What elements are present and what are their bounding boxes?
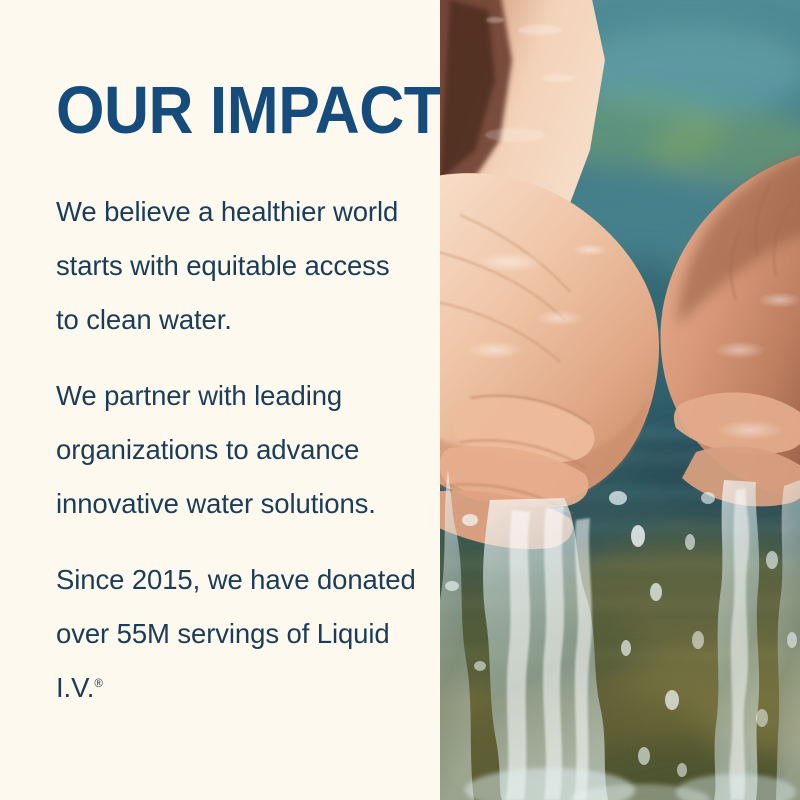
paragraph-partnerships: We partner with leading organizations to… bbox=[56, 369, 416, 531]
hands-with-water-photo bbox=[440, 0, 800, 800]
paragraph-mission: We believe a healthier world starts with… bbox=[56, 185, 416, 347]
paragraph-donations-text: Since 2015, we have donated over 55M ser… bbox=[56, 564, 416, 703]
text-panel: OUR IMPACT We believe a healthier world … bbox=[0, 0, 440, 800]
hands-with-water-illustration bbox=[440, 0, 800, 800]
registered-trademark-icon: ® bbox=[94, 678, 103, 690]
paragraph-donations: Since 2015, we have donated over 55M ser… bbox=[56, 553, 416, 715]
our-impact-promo-card: OUR IMPACT We believe a healthier world … bbox=[0, 0, 800, 800]
body-copy: We believe a healthier world starts with… bbox=[56, 185, 416, 715]
page-title: OUR IMPACT bbox=[56, 78, 441, 144]
